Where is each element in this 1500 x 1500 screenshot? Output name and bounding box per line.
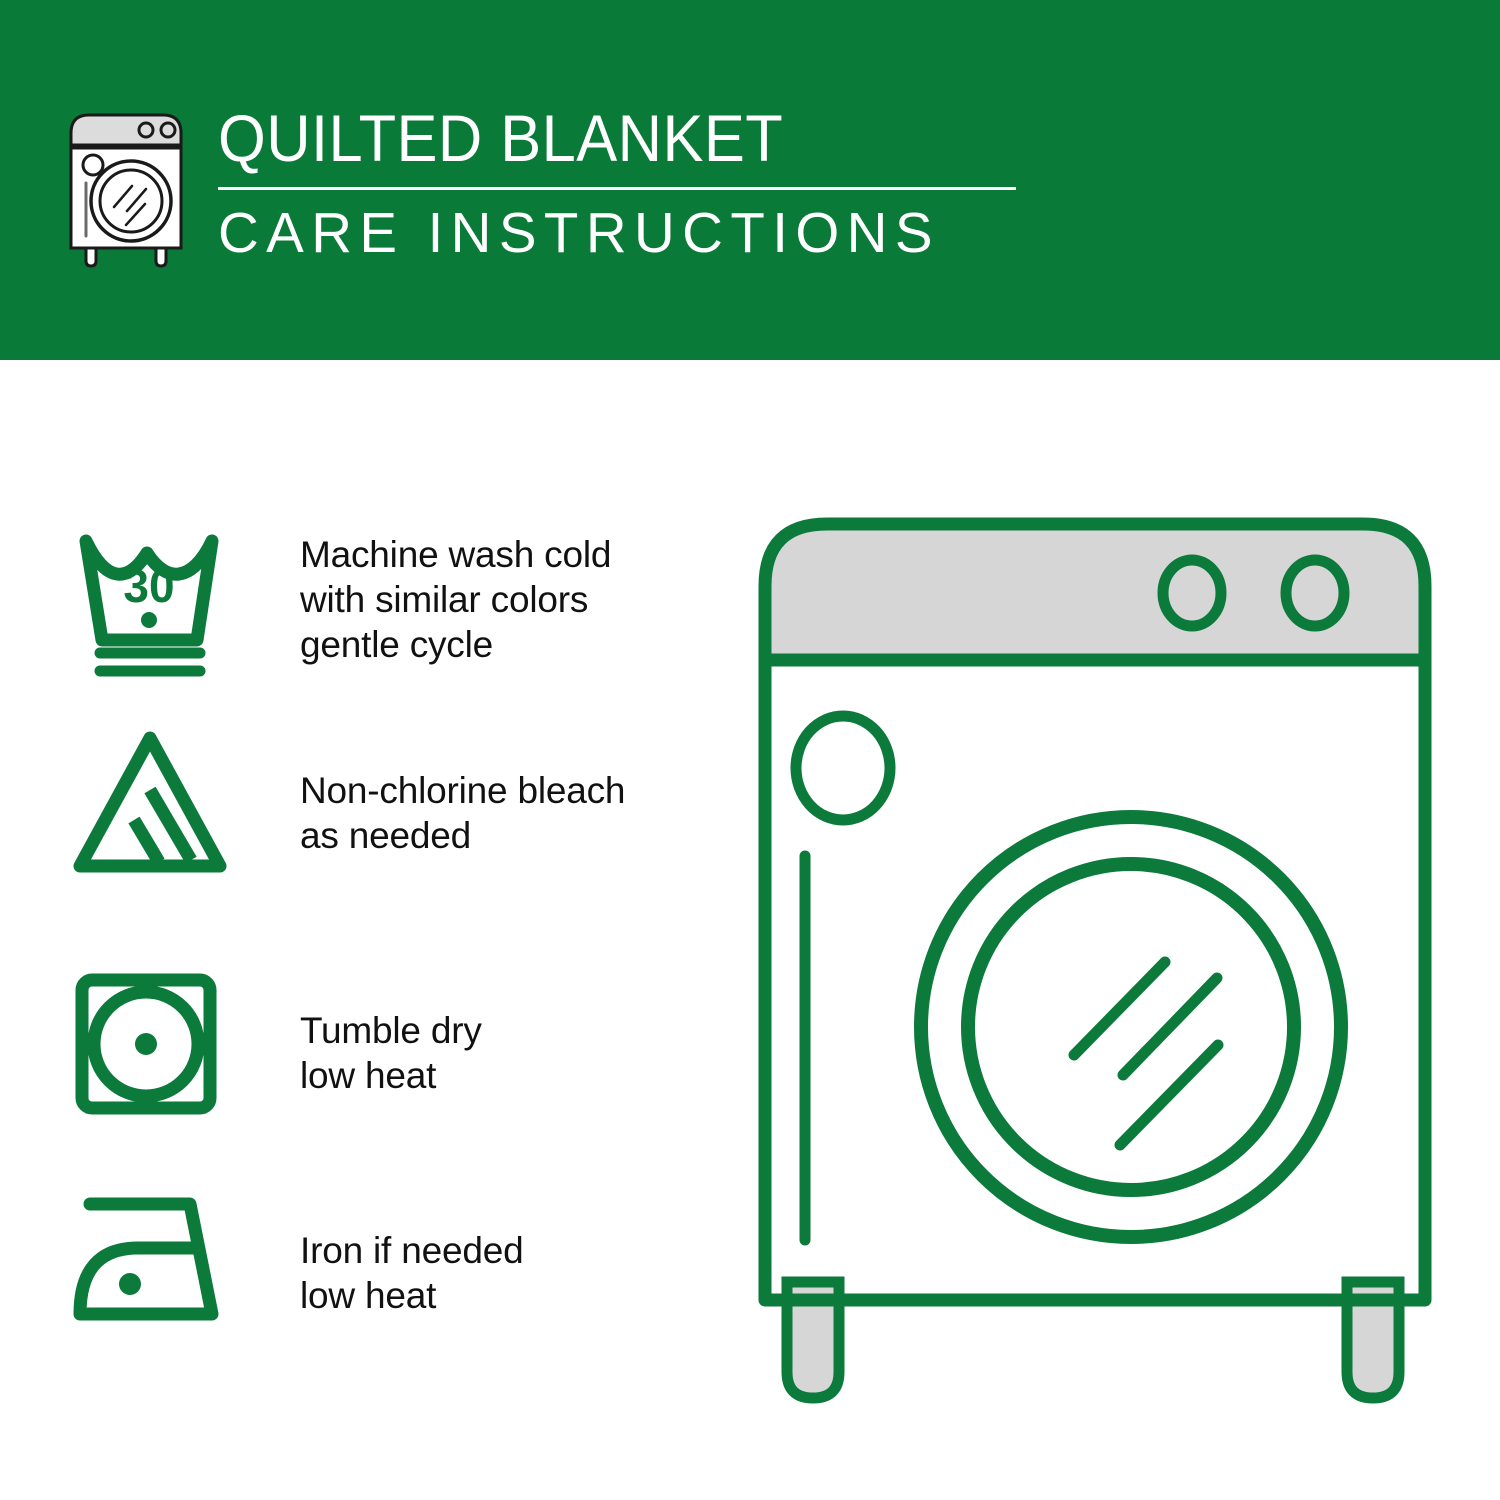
- page-subtitle: CARE INSTRUCTIONS: [218, 200, 1010, 266]
- care-instruction-list: 30 Machine wash cold with similar colors…: [0, 360, 720, 1500]
- care-item-tumble-dry: Tumble dry low heat: [0, 970, 720, 1150]
- door-outer-ring: [921, 817, 1341, 1237]
- title-divider: [218, 187, 1016, 190]
- care-line: low heat: [300, 1053, 482, 1098]
- wash-tub-30-gentle-icon: 30: [72, 520, 244, 685]
- wash-temperature-label: 30: [123, 560, 174, 612]
- care-item-machine-wash: 30 Machine wash cold with similar colors…: [0, 520, 720, 700]
- care-line: Iron if needed: [300, 1228, 523, 1273]
- page-title: QUILTED BLANKET: [218, 100, 962, 176]
- care-item-iron: Iron if needed low heat: [0, 1188, 720, 1368]
- care-line: Tumble dry: [300, 1008, 482, 1053]
- care-item-iron-label: Iron if needed low heat: [300, 1228, 523, 1318]
- non-chlorine-bleach-triangle-icon: [72, 728, 244, 883]
- iron-low-heat-icon: [72, 1188, 232, 1333]
- care-item-machine-wash-label: Machine wash cold with similar colors ge…: [300, 532, 611, 667]
- care-line: with similar colors: [300, 577, 611, 622]
- header-banner: QUILTED BLANKET CARE INSTRUCTIONS: [0, 0, 1500, 360]
- header-text-block: QUILTED BLANKET CARE INSTRUCTIONS: [218, 100, 1018, 266]
- care-line: low heat: [300, 1273, 523, 1318]
- tumble-dry-low-heat-icon: [72, 970, 222, 1125]
- care-item-bleach-label: Non-chlorine bleach as needed: [300, 768, 625, 858]
- care-item-bleach: Non-chlorine bleach as needed: [0, 728, 720, 908]
- detergent-indicator: [796, 716, 890, 820]
- care-line: as needed: [300, 813, 625, 858]
- care-line: gentle cycle: [300, 622, 611, 667]
- care-item-tumble-dry-label: Tumble dry low heat: [300, 1008, 482, 1098]
- care-line: Non-chlorine bleach: [300, 768, 625, 813]
- washing-machine-icon: [62, 103, 202, 268]
- care-line: Machine wash cold: [300, 532, 611, 577]
- door-swirl-lines: [1074, 962, 1218, 1145]
- front-load-washing-machine-illustration: [745, 500, 1445, 1420]
